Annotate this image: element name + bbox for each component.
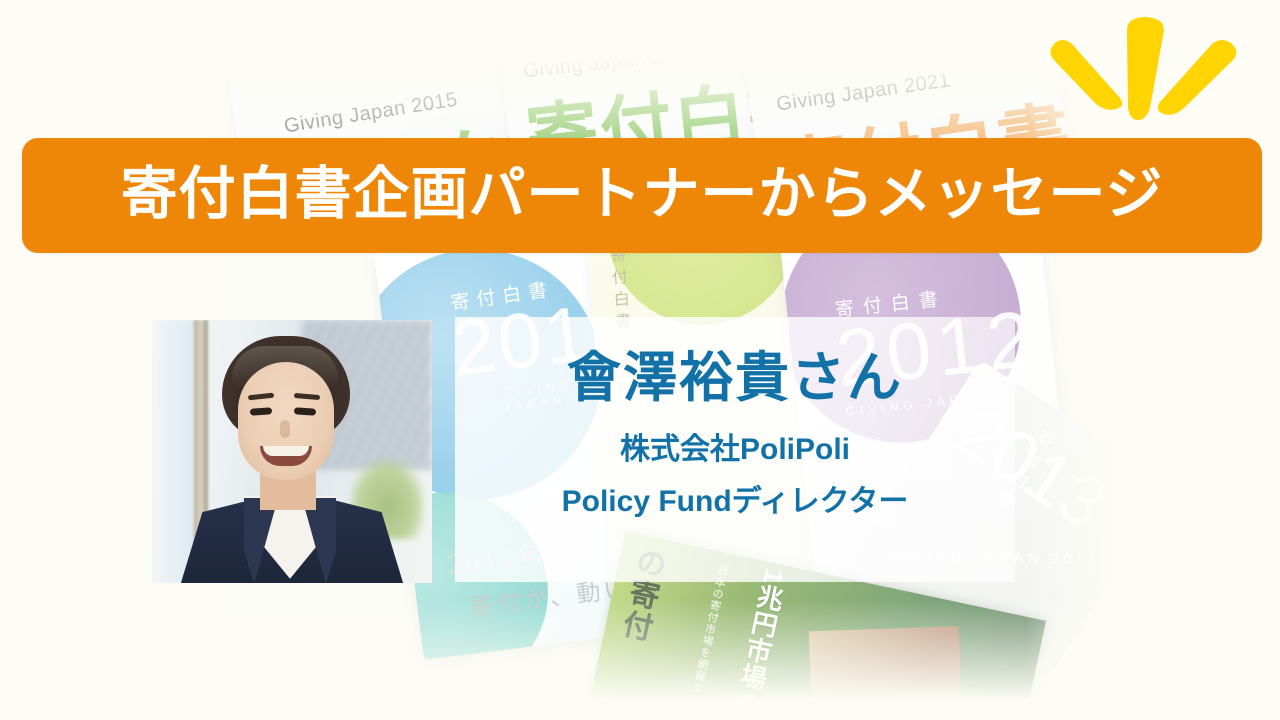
- photo-nose: [280, 420, 290, 438]
- profile-text-block: 會澤裕貴さん 株式会社PoliPoli Policy Fundディレクター: [455, 317, 1015, 582]
- yellow-burst-rays: [1032, 2, 1262, 132]
- photo-eye-right: [294, 407, 316, 416]
- profile-role: Policy Fundディレクター: [562, 484, 909, 520]
- headline-banner: 寄付白書企画パートナーからメッセージ: [22, 138, 1262, 253]
- profile-organization: 株式会社PoliPoli: [620, 432, 850, 468]
- profile-photo: [152, 320, 432, 583]
- profile-name: 會澤裕貴さん: [567, 349, 903, 408]
- slide-canvas: 寄付白書 2011 GIVING JAPAN 2011 2011年 寄付が、動い…: [0, 0, 1280, 720]
- headline-banner-title: 寄付白書企画パートナーからメッセージ: [121, 166, 1164, 223]
- background-bottom-fade: [0, 600, 1280, 720]
- photo-teeth: [263, 446, 309, 456]
